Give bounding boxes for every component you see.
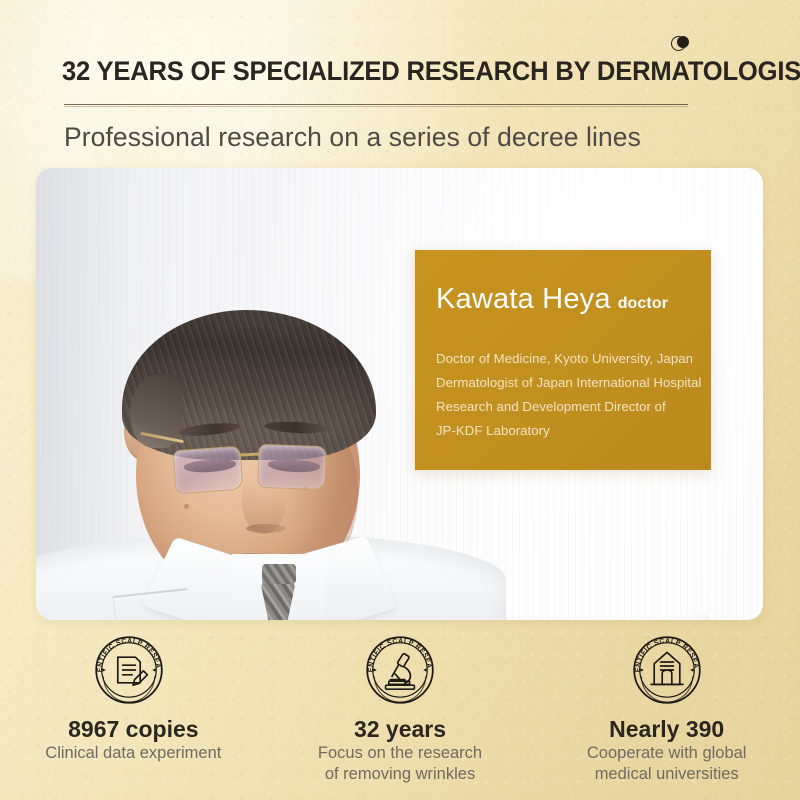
svg-text:SCIENTIFIC SCALP RESEARCH: SCIENTIFIC SCALP RESEARCH xyxy=(360,630,432,672)
scientific-scalp-research-badge: SCIENTIFIC SCALP RESEARCH xyxy=(89,630,169,710)
contrast-icon-fill xyxy=(677,36,689,48)
poster-root: 32 YEARS OF SPECIALIZED RESEARCH BY DERM… xyxy=(0,0,800,800)
scientific-scalp-research-badge: SCIENTIFIC SCALP RESEARCH xyxy=(627,630,707,710)
page-title: 32 YEARS OF SPECIALIZED RESEARCH BY DERM… xyxy=(62,56,728,87)
stat-description: Focus on the research of removing wrinkl… xyxy=(318,743,482,785)
stats-row: SCIENTIFIC SCALP RESEARCH 8967 copies Cl… xyxy=(0,630,800,800)
stat-item: SCIENTIFIC SCALP RESEARCH Nearly 390 Coo… xyxy=(533,630,800,800)
doctor-name: Kawata Heya xyxy=(436,283,611,315)
credential-line: JP-KDF Laboratory xyxy=(436,419,704,443)
credential-line: Dermatologist of Japan International Hos… xyxy=(436,371,704,395)
doctor-credentials: Doctor of Medicine, Kyoto University, Ja… xyxy=(436,347,704,443)
stat-value: 8967 copies xyxy=(68,716,198,743)
half-circle-contrast-icon xyxy=(671,36,690,51)
necktie-knot xyxy=(262,564,296,584)
page-subtitle: Professional research on a series of dec… xyxy=(64,122,641,153)
doctor-role: doctor xyxy=(618,295,668,312)
glove-finger xyxy=(593,611,713,620)
doctor-name-row: Kawata Heyadoctor xyxy=(436,283,668,316)
divider-line-top xyxy=(64,104,688,105)
stat-value: Nearly 390 xyxy=(609,716,724,743)
doctor-info-card: Kawata Heyadoctor Doctor of Medicine, Ky… xyxy=(415,250,711,470)
skin-spot xyxy=(184,504,189,509)
stat-description: Clinical data experiment xyxy=(45,743,221,764)
eyeglass-lens-left xyxy=(173,446,244,495)
nostril xyxy=(246,524,286,533)
credential-line: Doctor of Medicine, Kyoto University, Ja… xyxy=(436,347,704,371)
credential-line: Research and Development Director of xyxy=(436,395,704,419)
stat-item: SCIENTIFIC SCALP RESEARCH 32 years Focus… xyxy=(267,630,534,800)
gloved-hand-image xyxy=(592,468,763,620)
badge-arc-text: SCIENTIFIC SCALP RESEARCH xyxy=(360,630,432,672)
divider-line-bottom xyxy=(64,106,688,107)
stat-item: SCIENTIFIC SCALP RESEARCH 8967 copies Cl… xyxy=(0,630,267,800)
scientific-scalp-research-badge: SCIENTIFIC SCALP RESEARCH xyxy=(360,630,440,710)
stat-description: Cooperate with global medical universiti… xyxy=(587,743,747,785)
header-divider xyxy=(64,104,688,108)
stat-value: 32 years xyxy=(354,716,446,743)
